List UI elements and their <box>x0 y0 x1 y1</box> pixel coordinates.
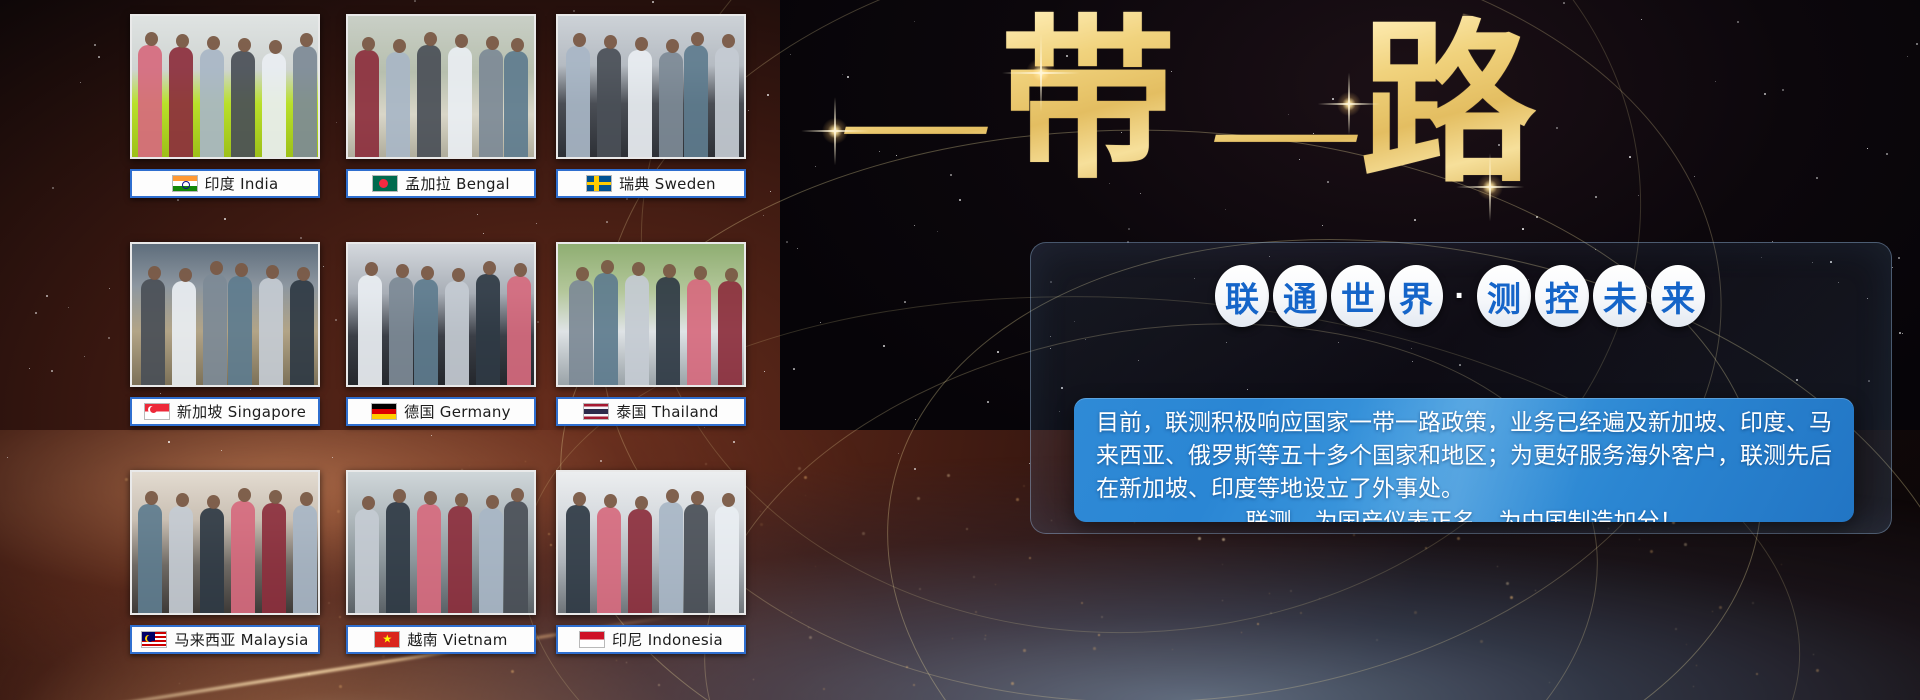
flag-malaysia-icon <box>141 631 167 648</box>
country-photo[interactable] <box>130 14 320 159</box>
headline-calligraphy: 一 带 一 路 <box>840 6 1540 206</box>
country-label: 马来西亚 Malaysia <box>130 625 320 654</box>
slogan-char-disc: 通 <box>1273 265 1327 327</box>
gallery-item-bengal[interactable]: 孟加拉 Bengal <box>346 14 536 198</box>
country-label: 泰国 Thailand <box>556 397 746 426</box>
country-label: 德国 Germany <box>346 397 536 426</box>
flag-bangladesh-icon <box>372 175 398 192</box>
calligraphy-char-1: 带 <box>1000 12 1176 188</box>
calligraphy-char-2: 一 <box>1202 110 1368 173</box>
banner-root: 印度 India孟加拉 Bengal瑞典 Sweden新加坡 Singapore… <box>0 0 1920 700</box>
country-label-text: 瑞典 Sweden <box>619 173 716 194</box>
slogan-char-disc: 世 <box>1331 265 1385 327</box>
country-photo[interactable] <box>346 14 536 159</box>
slogan-char-disc: 界 <box>1389 265 1443 327</box>
description-panel: 目前，联测积极响应国家一带一路政策，业务已经遍及新加坡、印度、马来西亚、俄罗斯等… <box>1074 398 1854 522</box>
flag-singapore-icon <box>144 403 170 420</box>
country-label-text: 新加坡 Singapore <box>177 401 306 422</box>
country-label-text: 德国 Germany <box>404 401 511 422</box>
calligraphy-char-3: 路 <box>1360 16 1536 192</box>
country-label-text: 孟加拉 Bengal <box>405 173 510 194</box>
gallery-item-india[interactable]: 印度 India <box>130 14 320 198</box>
country-label: 孟加拉 Bengal <box>346 169 536 198</box>
gallery-item-indonesia[interactable]: 印尼 Indonesia <box>556 470 746 654</box>
country-label: 印尼 Indonesia <box>556 625 746 654</box>
country-label-text: 印尼 Indonesia <box>612 629 723 650</box>
country-label: 新加坡 Singapore <box>130 397 320 426</box>
slogan-strip: 联通世界·测控未来 <box>1140 258 1780 334</box>
country-photo[interactable] <box>130 470 320 615</box>
description-tagline: 联测，为国产仪表正名，为中国制造加分！ <box>1096 506 1832 522</box>
gallery-item-singapore[interactable]: 新加坡 Singapore <box>130 242 320 426</box>
flag-germany-icon <box>371 403 397 420</box>
country-photo[interactable] <box>346 242 536 387</box>
slogan-char-disc: 未 <box>1593 265 1647 327</box>
slogan-char-disc: 联 <box>1215 265 1269 327</box>
gallery-item-germany[interactable]: 德国 Germany <box>346 242 536 426</box>
slogan-char-disc: 来 <box>1651 265 1705 327</box>
country-label-text: 越南 Vietnam <box>407 629 507 650</box>
country-label-text: 印度 India <box>205 173 279 194</box>
gallery-item-malaysia[interactable]: 马来西亚 Malaysia <box>130 470 320 654</box>
description-paragraph: 目前，联测积极响应国家一带一路政策，业务已经遍及新加坡、印度、马来西亚、俄罗斯等… <box>1096 407 1832 506</box>
slogan-separator-dot: · <box>1447 279 1473 313</box>
slogan-char-disc: 测 <box>1477 265 1531 327</box>
country-label: ★越南 Vietnam <box>346 625 536 654</box>
slogan-char-disc: 控 <box>1535 265 1589 327</box>
country-label-text: 马来西亚 Malaysia <box>174 629 308 650</box>
calligraphy-char-0: 一 <box>832 102 998 165</box>
country-photo[interactable] <box>556 242 746 387</box>
gallery-item-thailand[interactable]: 泰国 Thailand <box>556 242 746 426</box>
country-label: 印度 India <box>130 169 320 198</box>
gallery-item-vietnam[interactable]: ★越南 Vietnam <box>346 470 536 654</box>
country-photo[interactable] <box>556 470 746 615</box>
country-photo[interactable] <box>130 242 320 387</box>
country-label: 瑞典 Sweden <box>556 169 746 198</box>
country-label-text: 泰国 Thailand <box>616 401 719 422</box>
flag-indonesia-icon <box>579 631 605 648</box>
country-photo[interactable] <box>346 470 536 615</box>
flag-sweden-icon <box>586 175 612 192</box>
flag-vietnam-icon: ★ <box>374 631 400 648</box>
gallery-item-sweden[interactable]: 瑞典 Sweden <box>556 14 746 198</box>
flag-thailand-icon <box>583 403 609 420</box>
country-photo-grid: 印度 India孟加拉 Bengal瑞典 Sweden新加坡 Singapore… <box>130 14 760 686</box>
flag-india-icon <box>172 175 198 192</box>
country-photo[interactable] <box>556 14 746 159</box>
